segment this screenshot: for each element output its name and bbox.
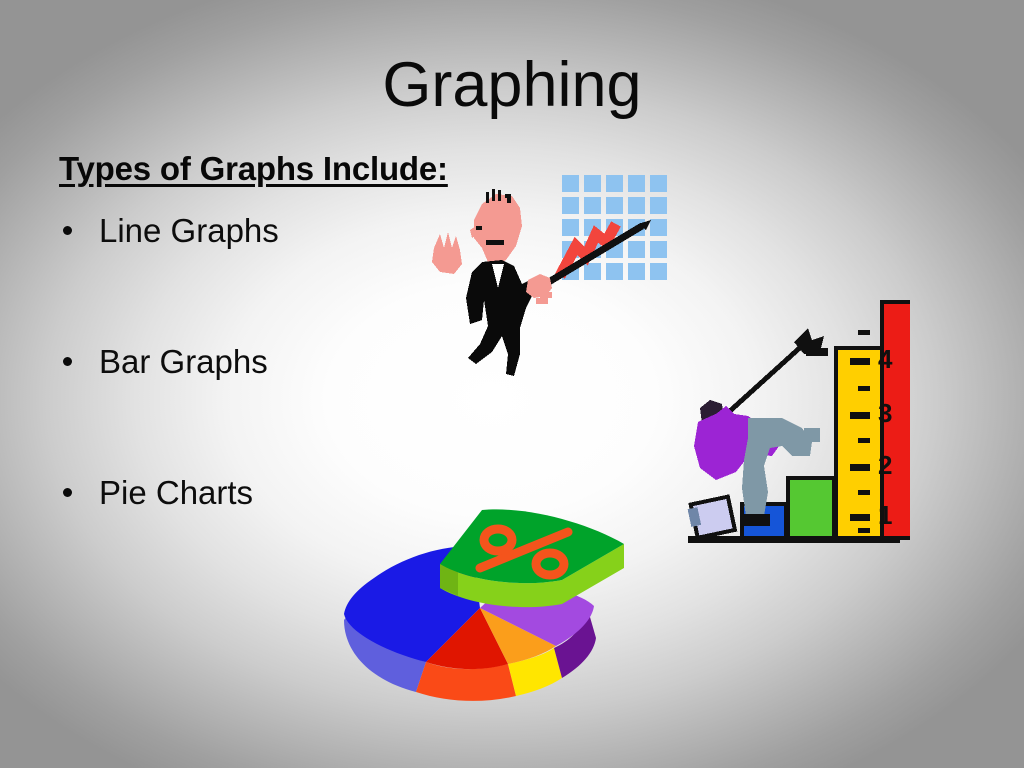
bullet-dot-icon: [63, 357, 72, 366]
pie-chart-clipart: [330, 492, 630, 720]
list-item: Line Graphs: [59, 212, 439, 343]
line-graph-clipart: [410, 168, 680, 388]
presenter-figure: [432, 189, 552, 376]
list-item-label: Bar Graphs: [99, 343, 268, 381]
axis-tick-label: 4: [878, 344, 893, 374]
axis-tick-label: 3: [878, 398, 892, 428]
section-heading: Types of Graphs Include:: [59, 150, 448, 188]
axis-tick-label: 2: [878, 450, 892, 480]
slide-canvas: Graphing Types of Graphs Include: Line G…: [0, 0, 1024, 768]
bullet-dot-icon: [63, 488, 72, 497]
grappling-hook-icon: [720, 328, 828, 420]
list-item-label: Pie Charts: [99, 474, 253, 512]
list-item-label: Line Graphs: [99, 212, 279, 250]
bullet-dot-icon: [63, 226, 72, 235]
page-title: Graphing: [0, 54, 1024, 117]
axis-tick-label: 1: [878, 500, 892, 530]
list-item: Bar Graphs: [59, 343, 439, 474]
exploded-percent-slice: [440, 509, 624, 607]
bar-chart-clipart: 4 3 2 1: [686, 296, 910, 548]
